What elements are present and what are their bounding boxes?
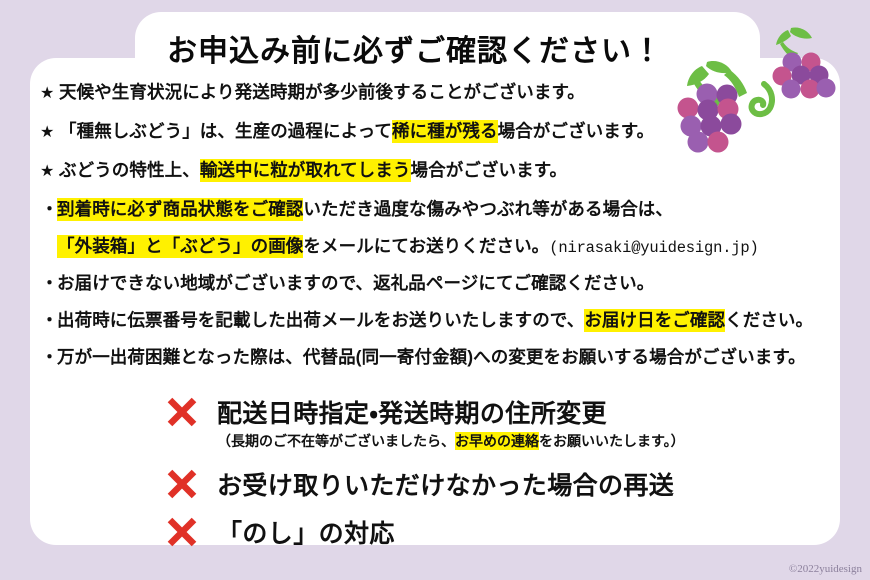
notice-text: 天候や生育状況により発送時期が多少前後することがございます。 [59, 82, 585, 102]
dot-bullet-icon: ・ [41, 349, 57, 366]
notice-text: いただき過度な傷みやつぶれ等がある場合は、 [303, 199, 673, 219]
notice-dot-item: ・お届けできない地域がございますので、返礼品ページにてご確認ください。 [30, 275, 840, 312]
star-bullet-icon: ★ [40, 164, 59, 180]
notice-text: お届けできない地域がございますので、返礼品ページにてご確認ください。 [57, 273, 654, 293]
dot-bullet-icon: ・ [41, 201, 57, 218]
dot-bullet-icon: ・ [41, 312, 57, 329]
unavailable-item-label: お受け取りいただけなかった場合の再送 [217, 466, 674, 502]
page-title: お申込み前に必ずご確認ください！ [135, 26, 695, 70]
unavailable-services-list: 配送日時指定・発送時期の住所変更 （長期のご不在等がございましたら、お早めの連絡… [165, 392, 765, 552]
notice-highlight: お届け日をご確認 [584, 309, 725, 332]
notice-dot-item: ・到着時に必ず商品状態をご確認いただき過度な傷みやつぶれ等がある場合は、 [30, 201, 840, 238]
notice-highlight: 稀に種が残る [392, 120, 498, 143]
note-highlight: お早めの連絡 [455, 432, 539, 450]
unavailable-item-label: 配送日時指定・発送時期の住所変更 [217, 394, 607, 430]
unavailable-item-note: （長期のご不在等がございましたら、お早めの連絡をお願いいたします。） [217, 430, 765, 456]
notice-star-item: ★ぶどうの特性上、輸送中に粒が取れてしまう場合がございます。 [30, 162, 840, 201]
notice-text: 場合がございます。 [498, 121, 655, 141]
notice-dot-item-continued: 「外装箱」と「ぶどう」の画像をメールにてお送りください。(nirasaki@yu… [30, 238, 840, 275]
notice-star-item: ★「種無しぶどう」は、生産の過程によって稀に種が残る場合がございます。 [30, 123, 840, 162]
unavailable-item-label: 「のし」の対応 [217, 514, 395, 550]
x-mark-icon [165, 395, 217, 429]
notice-text: ください。 [725, 310, 813, 330]
notice-text: をメールにてお送りください。 [303, 236, 549, 256]
star-bullet-icon: ★ [40, 86, 59, 102]
x-mark-icon [165, 515, 217, 549]
notice-highlight: 輸送中に粒が取れてしまう [200, 159, 411, 182]
notice-dot-item: ・万が一出荷困難となった際は、代替品(同一寄付金額)への変更をお願いする場合がご… [30, 349, 840, 386]
x-mark-icon [165, 467, 217, 501]
note-text: （長期のご不在等がございましたら、 [217, 433, 455, 449]
notice-text: 万が一出荷困難となった際は、代替品(同一寄付金額)への変更をお願いする場合がござ… [57, 347, 806, 367]
unavailable-item: お受け取りいただけなかった場合の再送 [165, 464, 765, 504]
copyright-text: ©2022yuidesign [789, 563, 862, 575]
notice-highlight: 到着時に必ず商品状態をご確認 [57, 198, 303, 221]
notice-highlight: 「外装箱」と「ぶどう」の画像 [57, 235, 303, 258]
notice-text: ぶどうの特性上、 [59, 160, 200, 180]
notice-text: 場合がございます。 [411, 160, 568, 180]
notice-list: ★天候や生育状況により発送時期が多少前後することがございます。 ★「種無しぶどう… [30, 84, 840, 386]
star-bullet-icon: ★ [40, 125, 59, 141]
notice-text: 「種無しぶどう」は、生産の過程によって [59, 121, 392, 141]
note-text: をお願いいたします。） [539, 433, 685, 449]
dot-bullet-icon: ・ [41, 275, 57, 292]
unavailable-item: 配送日時指定・発送時期の住所変更 [165, 392, 765, 432]
unavailable-item: 「のし」の対応 [165, 512, 765, 552]
notice-page: お申込み前に必ずご確認ください！ [0, 0, 870, 580]
notice-dot-item: ・出荷時に伝票番号を記載した出荷メールをお送りいたしますので、お届け日をご確認く… [30, 312, 840, 349]
contact-email[interactable]: (nirasaki@yuidesign.jp) [549, 239, 758, 257]
notice-star-item: ★天候や生育状況により発送時期が多少前後することがございます。 [30, 84, 840, 123]
notice-text: 出荷時に伝票番号を記載した出荷メールをお送りいたしますので、 [57, 310, 584, 330]
